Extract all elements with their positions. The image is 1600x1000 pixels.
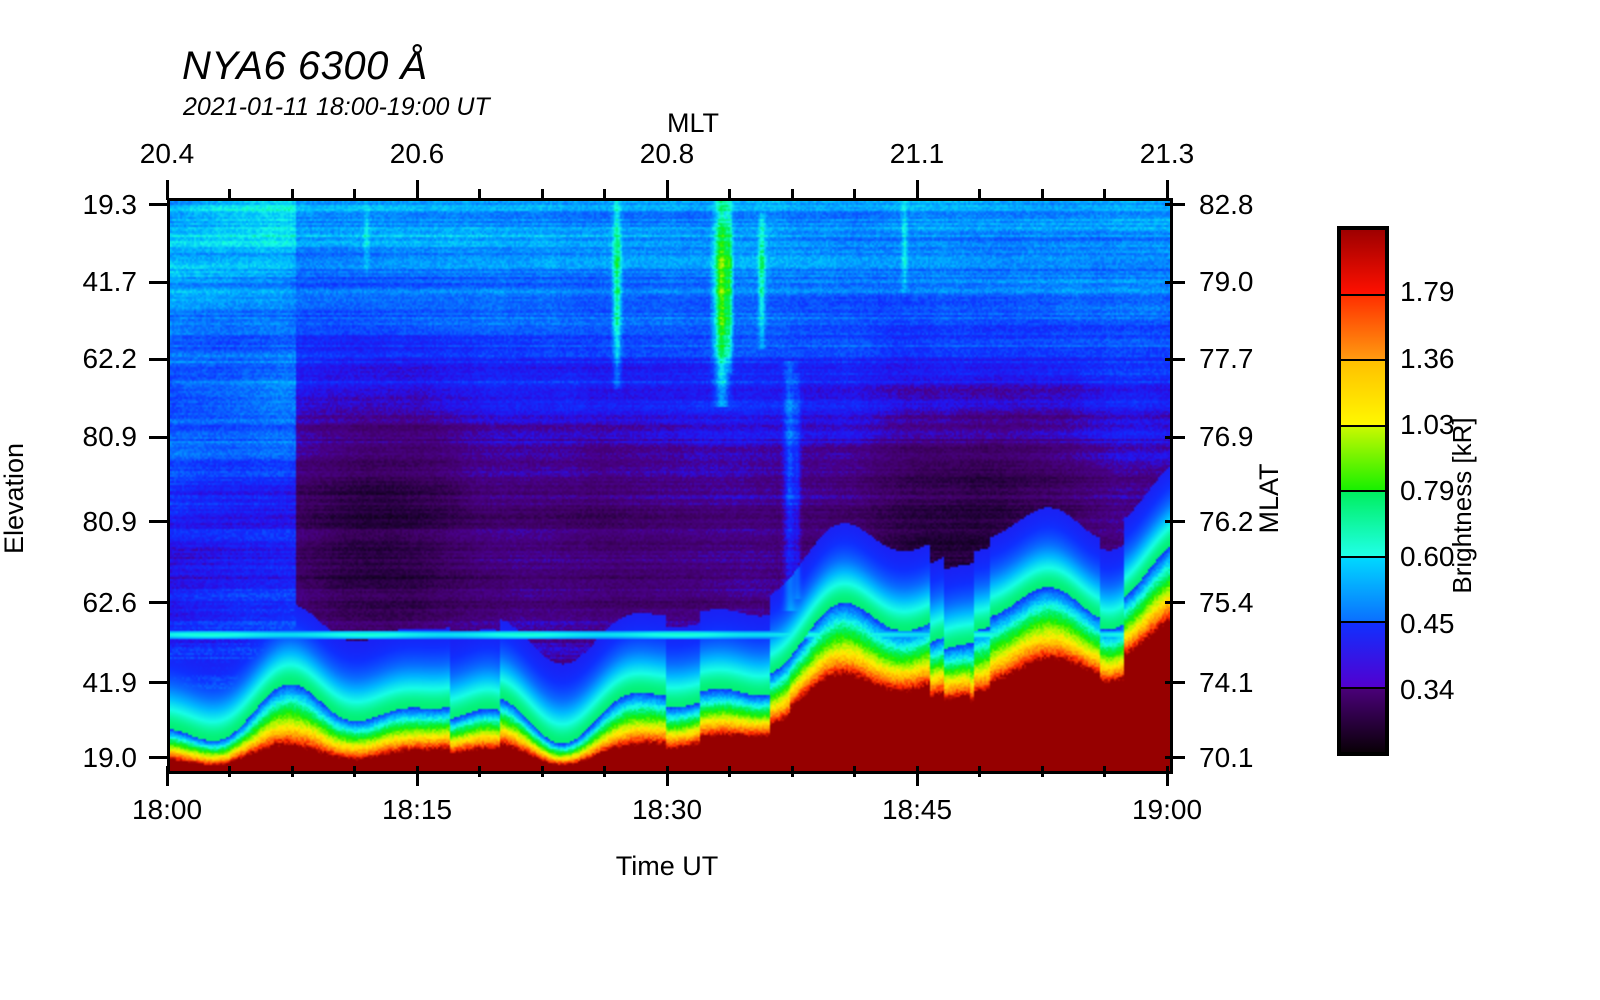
top-axis-minor-tick — [603, 189, 606, 200]
keogram-plot-area — [167, 198, 1173, 774]
right-axis-tick — [1165, 358, 1185, 361]
left-axis-tick — [149, 520, 169, 523]
top-axis-title-mlt: MLT — [667, 108, 719, 139]
left-axis-tick-label: 62.2 — [83, 343, 138, 375]
top-axis-tick-label: 20.6 — [390, 138, 445, 170]
left-axis-tick — [149, 203, 169, 206]
right-axis-tick-label: 82.8 — [1199, 189, 1254, 221]
top-axis-minor-tick — [541, 189, 544, 200]
right-axis-tick-label: 79.0 — [1199, 266, 1254, 298]
right-axis-tick — [1165, 756, 1185, 759]
right-axis-tick-label: 74.1 — [1199, 667, 1254, 699]
top-axis-major-tick — [166, 180, 169, 200]
top-axis-minor-tick — [853, 189, 856, 200]
left-axis-tick — [149, 756, 169, 759]
colorbar-band — [1341, 427, 1385, 493]
right-axis-tick — [1165, 436, 1185, 439]
bottom-axis-major-tick — [416, 766, 419, 786]
right-axis-tick-label: 76.9 — [1199, 421, 1254, 453]
top-axis-minor-tick — [353, 189, 356, 200]
top-axis-minor-tick — [1041, 189, 1044, 200]
bottom-axis-minor-tick — [541, 766, 544, 777]
colorbar — [1337, 226, 1389, 756]
top-axis-minor-tick — [978, 189, 981, 200]
right-axis-tick — [1165, 520, 1185, 523]
left-axis-tick-label: 41.9 — [83, 667, 138, 699]
bottom-axis-minor-tick — [791, 766, 794, 777]
bottom-axis-minor-tick — [353, 766, 356, 777]
top-axis-major-tick — [1166, 180, 1169, 200]
keogram-image — [170, 201, 1170, 771]
bottom-axis-major-tick — [666, 766, 669, 786]
page-subtitle: 2021-01-11 18:00-19:00 UT — [183, 93, 490, 122]
top-axis-major-tick — [666, 180, 669, 200]
top-axis-minor-tick — [291, 189, 294, 200]
bottom-axis-major-tick — [166, 766, 169, 786]
bottom-axis-minor-tick — [291, 766, 294, 777]
left-axis-tick — [149, 358, 169, 361]
colorbar-tick-label: 1.36 — [1400, 343, 1455, 375]
bottom-axis-minor-tick — [1041, 766, 1044, 777]
colorbar-band — [1341, 623, 1385, 689]
left-axis-tick — [149, 601, 169, 604]
bottom-axis-minor-tick — [728, 766, 731, 777]
bottom-axis-tick-label: 18:45 — [882, 794, 952, 826]
colorbar-band — [1341, 689, 1385, 753]
right-axis-tick-label: 77.7 — [1199, 343, 1254, 375]
bottom-axis-minor-tick — [228, 766, 231, 777]
top-axis-minor-tick — [1103, 189, 1106, 200]
top-axis-tick-label: 20.8 — [640, 138, 695, 170]
bottom-axis-major-tick — [1166, 766, 1169, 786]
bottom-axis-major-tick — [916, 766, 919, 786]
top-axis-major-tick — [416, 180, 419, 200]
left-axis-tick-label: 80.9 — [83, 421, 138, 453]
left-axis-title-elevation: Elevation — [0, 443, 30, 554]
top-axis-minor-tick — [228, 189, 231, 200]
bottom-axis-tick-label: 18:15 — [382, 794, 452, 826]
left-axis-tick-label: 80.9 — [83, 506, 138, 538]
colorbar-tick-label: 1.79 — [1400, 276, 1455, 308]
top-axis-tick-label: 21.1 — [890, 138, 945, 170]
colorbar-band — [1341, 361, 1385, 427]
bottom-axis-minor-tick — [853, 766, 856, 777]
left-axis-tick-label: 19.0 — [83, 742, 138, 774]
bottom-axis-minor-tick — [603, 766, 606, 777]
left-axis-tick-label: 41.7 — [83, 266, 138, 298]
bottom-axis-minor-tick — [478, 766, 481, 777]
left-axis-tick-label: 62.6 — [83, 587, 138, 619]
right-axis-tick-label: 70.1 — [1199, 742, 1254, 774]
bottom-axis-title-time: Time UT — [616, 851, 719, 882]
colorbar-tick-label: 1.03 — [1400, 409, 1455, 441]
left-axis-tick — [149, 281, 169, 284]
bottom-axis-minor-tick — [1103, 766, 1106, 777]
right-axis-tick-label: 76.2 — [1199, 506, 1254, 538]
top-axis-tick-label: 20.4 — [140, 138, 195, 170]
right-axis-tick — [1165, 281, 1185, 284]
bottom-axis-tick-label: 18:00 — [132, 794, 202, 826]
keogram-figure: NYA6 6300 Å 2021-01-11 18:00-19:00 UT ML… — [0, 0, 1600, 1000]
top-axis-minor-tick — [478, 189, 481, 200]
colorbar-band — [1341, 230, 1385, 296]
page-title: NYA6 6300 Å — [182, 44, 428, 89]
colorbar-band — [1341, 296, 1385, 362]
top-axis-tick-label: 21.3 — [1140, 138, 1195, 170]
colorbar-band — [1341, 558, 1385, 624]
top-axis-major-tick — [916, 180, 919, 200]
colorbar-tick-label: 0.79 — [1400, 475, 1455, 507]
colorbar-tick-label: 0.45 — [1400, 608, 1455, 640]
left-axis-tick — [149, 436, 169, 439]
right-axis-tick — [1165, 203, 1185, 206]
bottom-axis-tick-label: 19:00 — [1132, 794, 1202, 826]
right-axis-tick-label: 75.4 — [1199, 587, 1254, 619]
top-axis-minor-tick — [728, 189, 731, 200]
colorbar-tick-label: 0.60 — [1400, 541, 1455, 573]
left-axis-tick-label: 19.3 — [83, 189, 138, 221]
right-axis-title-mlat: MLAT — [1254, 463, 1285, 533]
colorbar-band — [1341, 492, 1385, 558]
right-axis-tick — [1165, 681, 1185, 684]
right-axis-tick — [1165, 601, 1185, 604]
left-axis-tick — [149, 681, 169, 684]
bottom-axis-minor-tick — [978, 766, 981, 777]
top-axis-minor-tick — [791, 189, 794, 200]
colorbar-tick-label: 0.34 — [1400, 674, 1455, 706]
bottom-axis-tick-label: 18:30 — [632, 794, 702, 826]
